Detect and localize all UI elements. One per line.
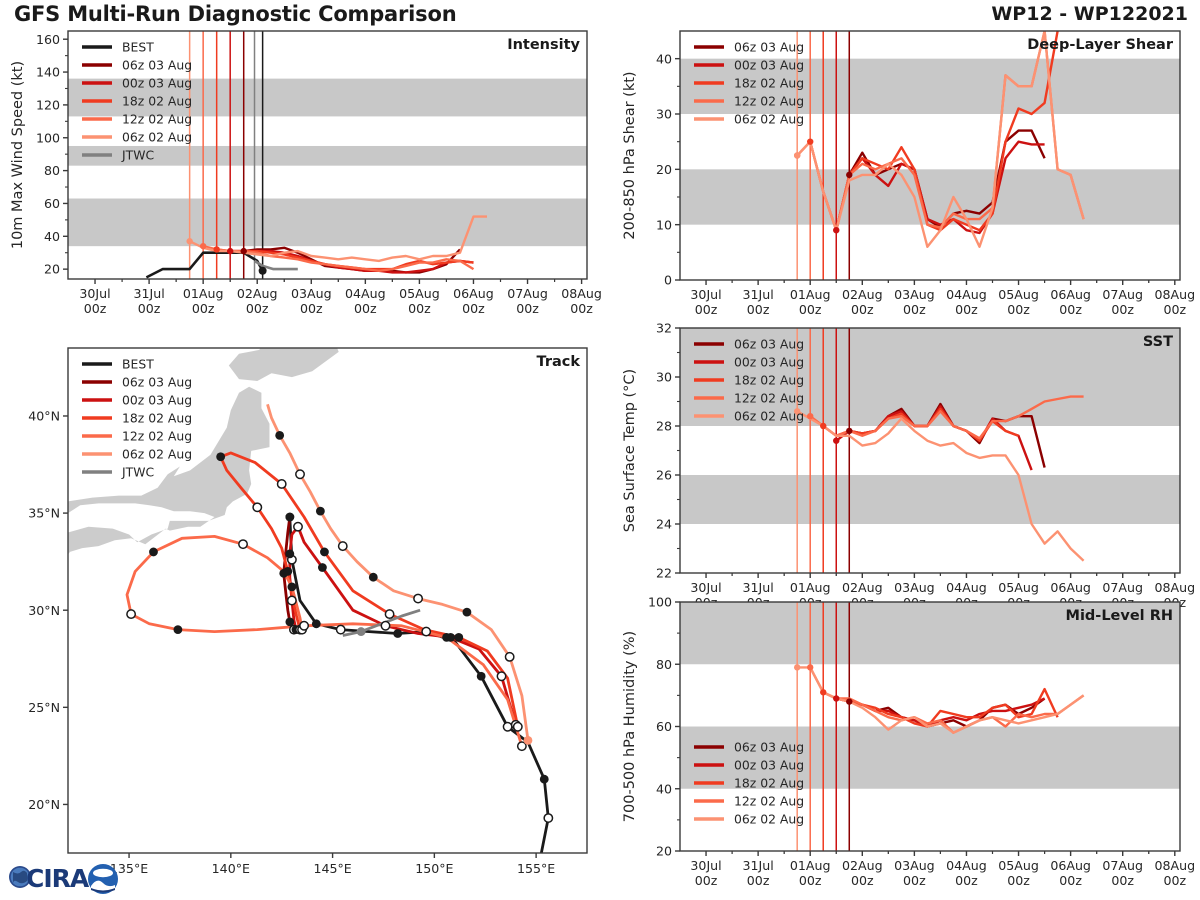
x-tick-sublabel: 00z xyxy=(903,302,926,317)
y-axis-title-rh: 700-500 hPa Humidity (%) xyxy=(622,631,638,822)
x-tick-label: 05Aug xyxy=(998,287,1039,302)
legend-label: 06z 03 Aug xyxy=(734,337,804,352)
y-axis-title-shear: 200-850 hPa Shear (kt) xyxy=(622,71,638,239)
legend-label: 00z 03 Aug xyxy=(734,355,804,370)
track-marker-filled xyxy=(285,617,294,626)
series-start-marker xyxy=(833,227,839,233)
legend-label: 18z 02 Aug xyxy=(122,411,192,426)
legend-label: JTWC xyxy=(121,148,154,163)
x-tick-label: 05Aug xyxy=(998,858,1039,873)
legend-label: 18z 02 Aug xyxy=(122,94,192,109)
y-axis-title-sst: Sea Surface Temp (°C) xyxy=(622,369,638,532)
panel-title-track: Track xyxy=(537,354,581,370)
diagnostic-figure: Intensity2040608010012014016030Jul00z31J… xyxy=(0,0,1200,900)
legend-label: 18z 02 Aug xyxy=(734,373,804,388)
x-tick-label: 31Jul xyxy=(133,286,164,301)
track-marker-filled xyxy=(149,548,158,557)
series-start-marker xyxy=(820,689,826,695)
series-start-marker xyxy=(807,413,813,419)
legend-label: 12z 02 Aug xyxy=(734,391,804,406)
y-tick-label: 0 xyxy=(664,273,672,288)
track-marker-open xyxy=(294,522,302,530)
x-tick-label: 30Jul xyxy=(690,580,721,595)
x-tick-label: 06Aug xyxy=(1050,580,1091,595)
legend-label: JTWC xyxy=(121,465,154,480)
y-tick-label: 80 xyxy=(656,657,672,672)
y-tick-label: 40 xyxy=(44,229,60,244)
x-tick-sublabel: 00z xyxy=(192,301,215,316)
y-tick-label: 28 xyxy=(656,419,672,434)
x-tick-sublabel: 00z xyxy=(851,873,874,888)
x-tick-sublabel: 00z xyxy=(1007,873,1030,888)
intensity-band xyxy=(680,475,1180,524)
x-tick-sublabel: 00z xyxy=(1059,873,1082,888)
track-marker-open xyxy=(339,542,347,550)
lon-tick-label: 145°E xyxy=(313,861,351,876)
x-tick-label: 08Aug xyxy=(1154,858,1195,873)
x-tick-sublabel: 00z xyxy=(300,301,323,316)
x-tick-sublabel: 00z xyxy=(1111,873,1134,888)
x-tick-label: 30Jul xyxy=(690,858,721,873)
x-tick-label: 04Aug xyxy=(946,287,987,302)
x-tick-label: 04Aug xyxy=(946,580,987,595)
y-tick-label: 22 xyxy=(656,566,672,581)
x-tick-sublabel: 00z xyxy=(1111,302,1134,317)
x-tick-label: 01Aug xyxy=(183,286,224,301)
panel-rh: Mid-Level RH2040608010030Jul00z31Jul00z0… xyxy=(622,595,1195,888)
legend-label: 06z 02 Aug xyxy=(734,112,804,127)
lat-tick-label: 35°N xyxy=(28,506,60,521)
x-tick-sublabel: 00z xyxy=(851,302,874,317)
series-start-marker xyxy=(820,423,826,429)
panel-title-rh: Mid-Level RH xyxy=(1066,608,1173,624)
legend-label: 18z 02 Aug xyxy=(734,76,804,91)
x-tick-label: 30Jul xyxy=(690,287,721,302)
track-marker-filled xyxy=(477,672,486,681)
lat-tick-label: 20°N xyxy=(28,797,60,812)
track-marker-filled xyxy=(442,633,451,642)
track-marker-open xyxy=(505,653,513,661)
legend-label: 00z 03 Aug xyxy=(734,758,804,773)
y-axis-title-intensity: 10m Max Wind Speed (kt) xyxy=(10,61,26,249)
x-tick-label: 06Aug xyxy=(453,286,494,301)
panel-title-shear: Deep-Layer Shear xyxy=(1027,37,1174,53)
x-tick-sublabel: 00z xyxy=(354,301,377,316)
x-tick-sublabel: 00z xyxy=(84,301,107,316)
x-tick-label: 01Aug xyxy=(790,287,831,302)
legend-label: 06z 03 Aug xyxy=(122,375,192,390)
intensity-band xyxy=(680,169,1180,224)
y-tick-label: 140 xyxy=(36,65,60,80)
y-tick-label: 26 xyxy=(656,468,672,483)
y-tick-label: 20 xyxy=(656,162,672,177)
y-tick-label: 20 xyxy=(44,262,60,277)
legend-label: 06z 02 Aug xyxy=(122,130,192,145)
best-end-marker xyxy=(259,267,267,275)
x-tick-label: 07Aug xyxy=(507,286,548,301)
legend-label: 06z 03 Aug xyxy=(734,40,804,55)
track-marker-filled xyxy=(454,633,463,642)
track-marker-open xyxy=(514,723,522,731)
legend-label: 06z 03 Aug xyxy=(734,740,804,755)
x-tick-sublabel: 00z xyxy=(408,301,431,316)
series-start-marker xyxy=(227,248,233,254)
x-tick-label: 02Aug xyxy=(842,580,883,595)
track-marker-filled xyxy=(283,567,292,576)
x-tick-label: 03Aug xyxy=(894,287,935,302)
legend-label: 12z 02 Aug xyxy=(734,94,804,109)
x-tick-label: 03Aug xyxy=(894,858,935,873)
series-start-marker xyxy=(807,664,813,670)
track-marker-filled xyxy=(174,625,183,634)
svg-text:CIRA: CIRA xyxy=(26,864,90,893)
legend-label: 18z 02 Aug xyxy=(734,776,804,791)
x-tick-label: 08Aug xyxy=(561,286,602,301)
track-marker-open xyxy=(278,480,286,488)
y-tick-label: 100 xyxy=(36,130,60,145)
track-marker-filled xyxy=(285,549,294,558)
y-tick-label: 80 xyxy=(44,163,60,178)
x-tick-sublabel: 00z xyxy=(695,873,718,888)
x-tick-label: 02Aug xyxy=(842,858,883,873)
lat-tick-label: 30°N xyxy=(28,603,60,618)
lon-tick-label: 140°E xyxy=(212,861,250,876)
y-tick-label: 30 xyxy=(656,107,672,122)
x-tick-label: 08Aug xyxy=(1154,287,1195,302)
legend-label: BEST xyxy=(122,40,154,55)
track-marker-filled xyxy=(393,629,402,638)
track-marker-open xyxy=(385,610,393,618)
series-start-marker xyxy=(213,246,219,252)
lat-tick-label: 40°N xyxy=(28,409,60,424)
x-tick-sublabel: 00z xyxy=(955,873,978,888)
track-marker-filled xyxy=(357,627,366,636)
y-tick-label: 40 xyxy=(656,51,672,66)
series-start-marker xyxy=(846,172,852,178)
x-tick-sublabel: 00z xyxy=(1163,873,1186,888)
legend-label: 12z 02 Aug xyxy=(122,429,192,444)
cira-logo: CIRA xyxy=(6,856,124,898)
track-marker-open xyxy=(422,627,430,635)
x-tick-sublabel: 00z xyxy=(462,301,485,316)
panel-shear: Deep-Layer Shear01020304030Jul00z31Jul00… xyxy=(622,31,1195,317)
panel-title-intensity: Intensity xyxy=(507,37,580,53)
series-start-marker xyxy=(807,138,813,144)
legend-label: BEST xyxy=(122,357,154,372)
y-tick-label: 30 xyxy=(656,370,672,385)
x-tick-sublabel: 00z xyxy=(1163,302,1186,317)
x-tick-label: 31Jul xyxy=(743,287,774,302)
legend-label: 12z 02 Aug xyxy=(734,794,804,809)
lon-tick-label: 155°E xyxy=(517,861,555,876)
y-tick-label: 40 xyxy=(656,781,672,796)
x-tick-label: 04Aug xyxy=(946,858,987,873)
x-tick-label: 05Aug xyxy=(998,580,1039,595)
series-start-marker xyxy=(833,695,839,701)
series-start-marker xyxy=(833,438,839,444)
track-marker-filled xyxy=(463,608,472,617)
y-tick-label: 60 xyxy=(656,719,672,734)
x-tick-label: 06Aug xyxy=(1050,858,1091,873)
x-tick-label: 03Aug xyxy=(894,580,935,595)
x-tick-sublabel: 00z xyxy=(955,302,978,317)
panel-intensity: Intensity2040608010012014016030Jul00z31J… xyxy=(10,31,602,316)
x-tick-sublabel: 00z xyxy=(695,302,718,317)
x-tick-sublabel: 00z xyxy=(138,301,161,316)
x-tick-sublabel: 00z xyxy=(246,301,269,316)
series-start-marker xyxy=(186,238,192,244)
legend-label: 00z 03 Aug xyxy=(734,58,804,73)
x-tick-label: 04Aug xyxy=(345,286,386,301)
track-marker-filled xyxy=(540,775,549,784)
legend-label: 12z 02 Aug xyxy=(122,112,192,127)
series-start-marker xyxy=(241,248,247,254)
x-tick-label: 08Aug xyxy=(1154,580,1195,595)
track-marker-open xyxy=(381,622,389,630)
y-tick-label: 32 xyxy=(656,321,672,336)
track-marker-filled xyxy=(285,513,294,522)
track-marker-open xyxy=(296,470,304,478)
track-end-marker xyxy=(524,736,533,745)
x-tick-label: 30Jul xyxy=(79,286,110,301)
x-tick-label: 01Aug xyxy=(790,858,831,873)
panel-track: Track20°N25°N30°N35°N40°N135°E140°E145°E… xyxy=(0,257,587,876)
track-marker-open xyxy=(503,723,511,731)
x-tick-label: 06Aug xyxy=(1050,287,1091,302)
y-tick-label: 20 xyxy=(656,844,672,859)
track-marker-filled xyxy=(287,583,296,592)
x-tick-label: 31Jul xyxy=(743,580,774,595)
series-start-marker xyxy=(846,428,852,434)
track-marker-open xyxy=(300,622,308,630)
legend-label: 06z 02 Aug xyxy=(734,409,804,424)
x-tick-sublabel: 00z xyxy=(1007,302,1030,317)
landmass xyxy=(0,439,17,523)
x-tick-label: 07Aug xyxy=(1102,580,1143,595)
x-tick-sublabel: 00z xyxy=(799,873,822,888)
x-tick-label: 31Jul xyxy=(743,858,774,873)
intensity-band xyxy=(68,199,587,247)
track-marker-filled xyxy=(369,573,378,582)
track-marker-open xyxy=(497,672,505,680)
track-marker-filled xyxy=(318,563,327,572)
track-marker-open xyxy=(414,594,422,602)
x-tick-sublabel: 00z xyxy=(799,302,822,317)
track-marker-open xyxy=(337,625,345,633)
series-start-marker xyxy=(846,698,852,704)
legend-label: 06z 03 Aug xyxy=(122,58,192,73)
lat-tick-label: 25°N xyxy=(28,700,60,715)
x-tick-sublabel: 00z xyxy=(1059,302,1082,317)
track-marker-open xyxy=(127,610,135,618)
x-tick-sublabel: 00z xyxy=(516,301,539,316)
series-start-marker xyxy=(794,664,800,670)
x-tick-sublabel: 00z xyxy=(747,302,770,317)
track-marker-open xyxy=(239,540,247,548)
lon-tick-label: 150°E xyxy=(415,861,453,876)
track-marker-filled xyxy=(216,452,225,461)
x-tick-label: 07Aug xyxy=(1102,287,1143,302)
legend-label: 06z 02 Aug xyxy=(734,812,804,827)
x-tick-sublabel: 00z xyxy=(903,873,926,888)
y-tick-label: 100 xyxy=(648,595,672,610)
track-marker-open xyxy=(544,814,552,822)
track-marker-filled xyxy=(320,548,329,557)
track-marker-filled xyxy=(312,619,321,628)
x-tick-label: 02Aug xyxy=(842,287,883,302)
x-tick-label: 05Aug xyxy=(399,286,440,301)
legend-label: 00z 03 Aug xyxy=(122,76,192,91)
y-tick-label: 160 xyxy=(36,32,60,47)
series-start-marker xyxy=(200,243,206,249)
y-tick-label: 10 xyxy=(656,217,672,232)
panel-sst: SST22242628303230Jul00z31Jul00z01Aug00z0… xyxy=(622,321,1195,610)
x-tick-label: 02Aug xyxy=(237,286,278,301)
track-marker-filled xyxy=(275,431,284,440)
x-tick-label: 07Aug xyxy=(1102,858,1143,873)
track-marker-open xyxy=(253,503,261,511)
y-tick-label: 120 xyxy=(36,98,60,113)
track-marker-filled xyxy=(316,507,325,516)
legend-label: 00z 03 Aug xyxy=(122,393,192,408)
x-tick-sublabel: 00z xyxy=(747,873,770,888)
y-tick-label: 60 xyxy=(44,196,60,211)
y-tick-label: 24 xyxy=(656,517,672,532)
legend-label: 06z 02 Aug xyxy=(122,447,192,462)
series-start-marker xyxy=(794,152,800,158)
track-marker-open xyxy=(288,596,296,604)
x-tick-label: 01Aug xyxy=(790,580,831,595)
x-tick-sublabel: 00z xyxy=(570,301,593,316)
x-tick-label: 03Aug xyxy=(291,286,332,301)
panel-title-sst: SST xyxy=(1143,334,1173,350)
